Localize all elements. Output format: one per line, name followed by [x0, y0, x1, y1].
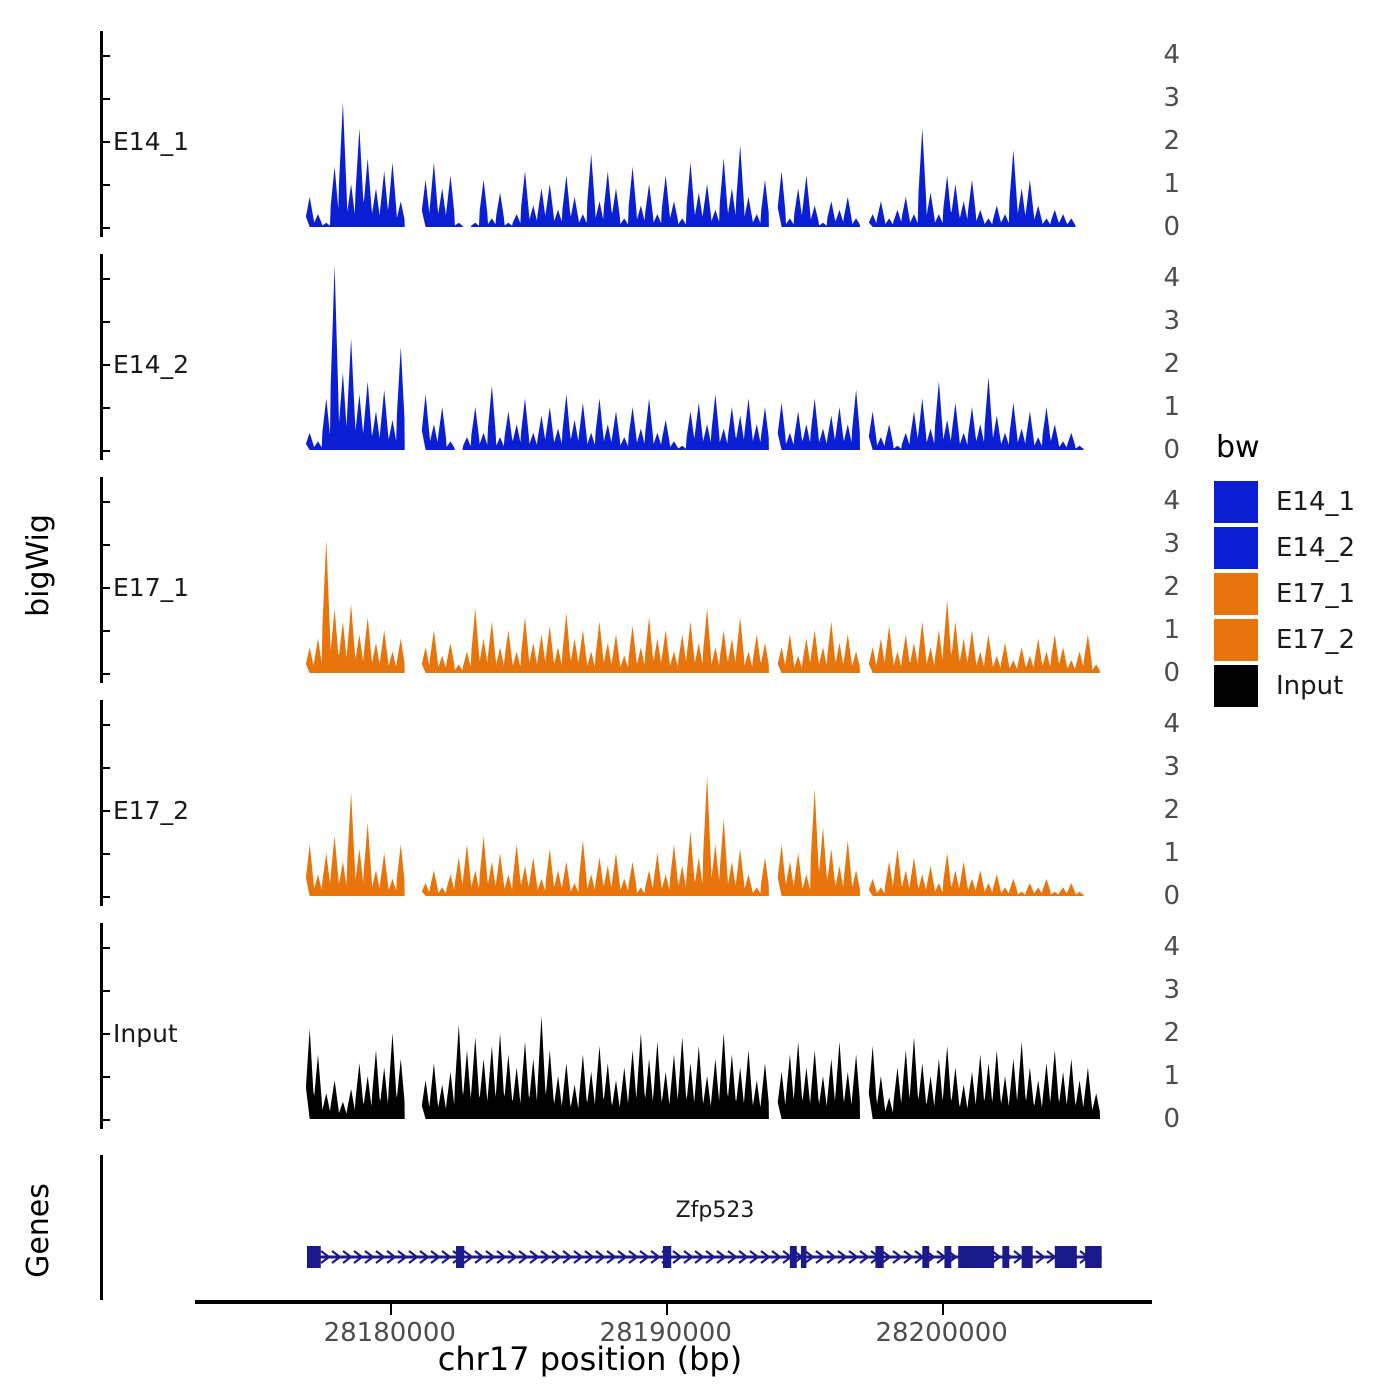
legend-title: bw	[1214, 430, 1394, 465]
legend-label: Input	[1276, 671, 1343, 701]
legend-label: E14_1	[1276, 487, 1355, 517]
gene-name-label: Zfp523	[640, 1198, 790, 1223]
track-area-e14_1	[0, 31, 1180, 237]
x-tick	[390, 1304, 392, 1315]
legend-swatch	[1214, 527, 1258, 569]
legend-item-e14_1[interactable]: E14_1	[1214, 479, 1394, 525]
track-panel-e14_2: 01234E14_2	[0, 254, 1180, 460]
track-panel-input: 01234Input	[0, 923, 1180, 1129]
track-panel-e17_2: 01234E17_2	[0, 700, 1180, 906]
x-axis-label: chr17 position (bp)	[0, 1340, 1180, 1378]
genome-browser-figure: bigWig Genes 01234E14_101234E14_201234E1…	[0, 0, 1400, 1400]
legend-items: E14_1E14_2E17_1E17_2Input	[1214, 479, 1394, 709]
legend: bw E14_1E14_2E17_1E17_2Input	[1214, 430, 1394, 709]
track-panel-e14_1: 01234E14_1	[0, 31, 1180, 237]
legend-label: E14_2	[1276, 533, 1355, 563]
legend-swatch	[1214, 619, 1258, 661]
x-axis-line	[195, 1300, 1152, 1304]
legend-item-e14_2[interactable]: E14_2	[1214, 525, 1394, 571]
legend-label: E17_1	[1276, 579, 1355, 609]
legend-swatch	[1214, 481, 1258, 523]
gene-model	[0, 1150, 1180, 1310]
legend-label: E17_2	[1276, 625, 1355, 655]
legend-item-input[interactable]: Input	[1214, 663, 1394, 709]
legend-swatch	[1214, 573, 1258, 615]
x-tick	[666, 1304, 668, 1315]
track-area-e17_1	[0, 477, 1180, 683]
track-area-e14_2	[0, 254, 1180, 460]
track-area-e17_2	[0, 700, 1180, 906]
track-area-input	[0, 923, 1180, 1129]
legend-item-e17_1[interactable]: E17_1	[1214, 571, 1394, 617]
track-panel-e17_1: 01234E17_1	[0, 477, 1180, 683]
genes-panel	[0, 1150, 1180, 1310]
x-tick	[942, 1304, 944, 1315]
legend-swatch	[1214, 665, 1258, 707]
legend-item-e17_2[interactable]: E17_2	[1214, 617, 1394, 663]
